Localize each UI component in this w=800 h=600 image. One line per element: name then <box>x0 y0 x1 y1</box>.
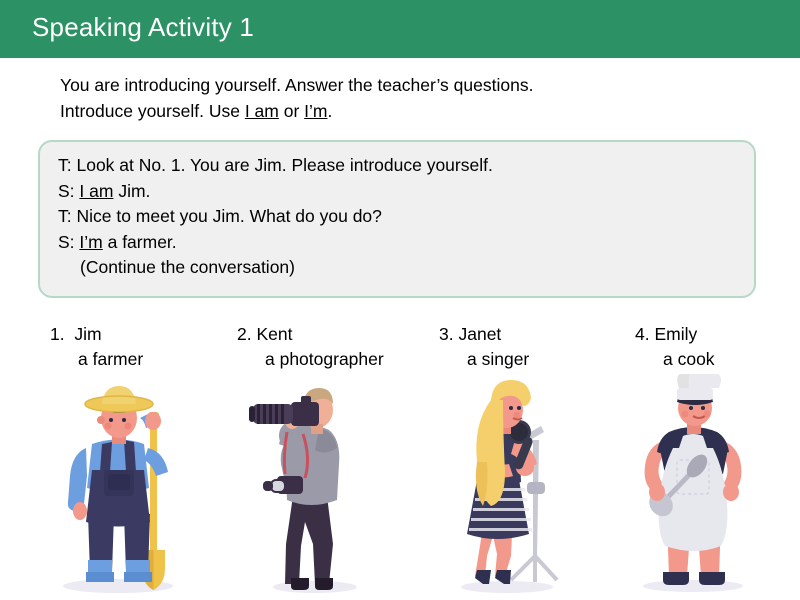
farmer-figure <box>20 374 220 600</box>
photographer-figure <box>215 374 415 600</box>
card-jim-name: Jim <box>74 324 101 344</box>
dialogue-line-teacher-2: T: Nice to meet you Jim. What do you do? <box>58 204 493 230</box>
card-kent-job: a photographer <box>237 347 437 372</box>
dialogue-lines: T: Look at No. 1. You are Jim. Please in… <box>58 153 493 281</box>
dialogue-line-student-2: S: I’m a farmer. <box>58 230 493 256</box>
dialogue-underline-i-am: I am <box>79 181 113 201</box>
dialogue-example-box: T: Look at No. 1. You are Jim. Please in… <box>38 140 756 298</box>
card-janet-name: Janet <box>458 324 501 344</box>
dialogue-underline-im: I’m <box>79 232 102 252</box>
dialogue-line-student-2-suffix: a farmer. <box>103 232 177 252</box>
singer-figure <box>415 374 615 600</box>
card-kent-number: 2. <box>237 324 252 344</box>
card-kent-name-row: 2. Kent <box>237 322 437 347</box>
dialogue-line-student-1-suffix: Jim. <box>113 181 150 201</box>
card-jim-number: 1. <box>50 324 65 344</box>
dialogue-line-teacher-1: T: Look at No. 1. You are Jim. Please in… <box>58 153 493 179</box>
instruction-line-2: Introduce yourself. Use I am or I’m. <box>60 98 760 124</box>
card-kent-label: 2. Kent a photographer <box>215 322 437 372</box>
card-kent: 2. Kent a photographer <box>215 322 415 600</box>
page-title: Speaking Activity 1 <box>32 12 254 43</box>
card-emily-label: 4. Emily a cook <box>605 322 800 372</box>
card-emily-number: 4. <box>635 324 650 344</box>
dialogue-line-student-1: S: I am Jim. <box>58 179 493 205</box>
character-cards: 1. Jim a farmer <box>0 322 800 600</box>
card-kent-name: Kent <box>256 324 292 344</box>
card-janet-number: 3. <box>439 324 454 344</box>
dialogue-line-student-2-prefix: S: <box>58 232 79 252</box>
instructions-block: You are introducing yourself. Answer the… <box>60 72 760 124</box>
dialogue-line-student-1-prefix: S: <box>58 181 79 201</box>
instruction-underline-im: I’m <box>304 101 327 121</box>
cook-figure <box>605 374 800 600</box>
card-emily-job: a cook <box>635 347 800 372</box>
header-band: Speaking Activity 1 <box>0 0 800 58</box>
instruction-line-1: You are introducing yourself. Answer the… <box>60 72 760 98</box>
instruction-line-2-text-b: or <box>279 101 304 121</box>
instruction-line-2-text-c: . <box>327 101 332 121</box>
card-jim: 1. Jim a farmer <box>20 322 220 600</box>
card-janet: 3. Janet a singer <box>415 322 615 600</box>
instruction-underline-i-am: I am <box>245 101 279 121</box>
card-emily-name-row: 4. Emily <box>635 322 800 347</box>
dialogue-line-continue-note: (Continue the conversation) <box>58 255 493 281</box>
card-emily-name: Emily <box>654 324 697 344</box>
instruction-line-2-text-a: Introduce yourself. Use <box>60 101 245 121</box>
card-emily: 4. Emily a cook <box>605 322 800 600</box>
